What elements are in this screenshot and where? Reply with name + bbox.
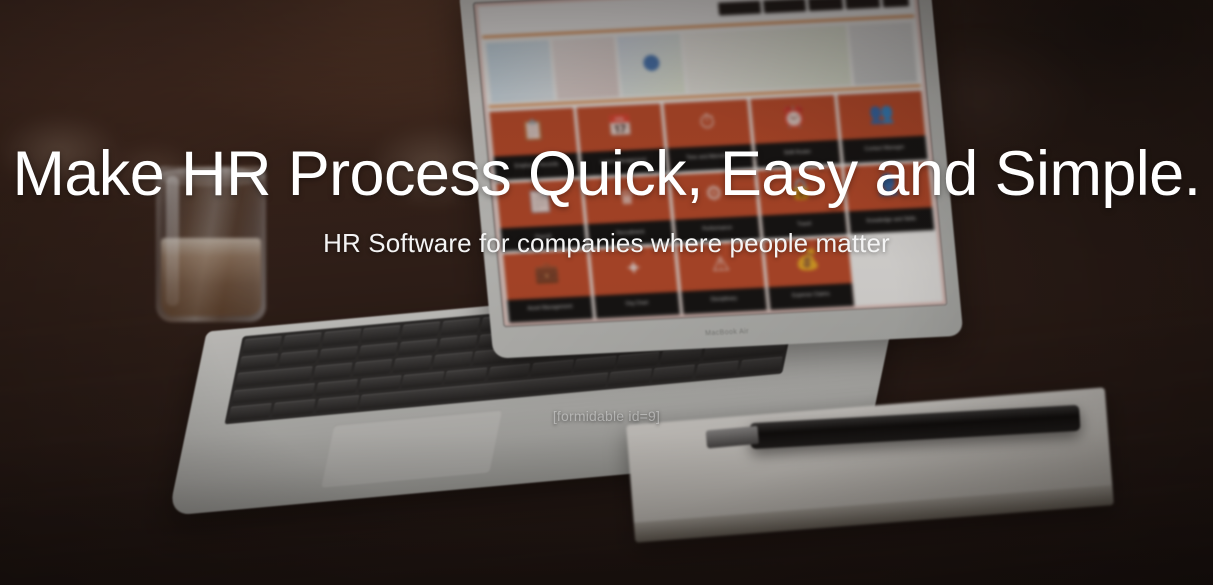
page-subtitle: HR Software for companies where people m… [0, 228, 1213, 259]
page-title: Make HR Process Quick, Easy and Simple. [0, 142, 1213, 206]
hero-background-photo: 📋Employee Records 📅Leave Management ⏱Tim… [0, 0, 1213, 585]
hero-banner: 📋Employee Records 📅Leave Management ⏱Tim… [0, 0, 1213, 585]
formidable-shortcode-text: [formidable id=9] [0, 408, 1213, 424]
background-vignette [0, 0, 1213, 585]
hero-text-block: Make HR Process Quick, Easy and Simple. … [0, 142, 1213, 259]
